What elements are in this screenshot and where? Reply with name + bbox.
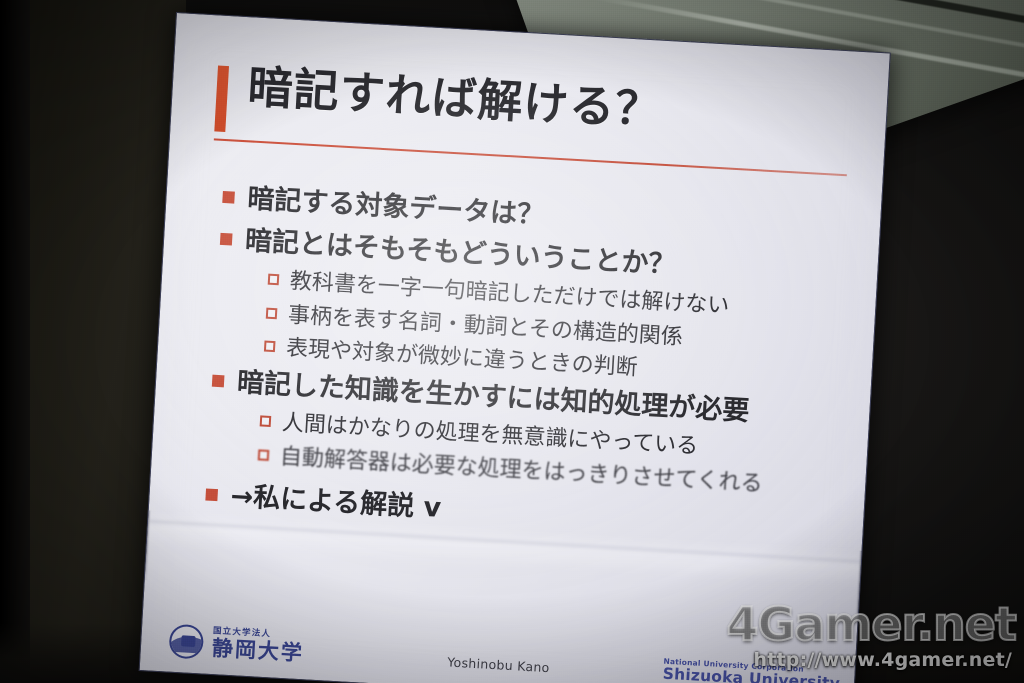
bullet-hollow-square-icon: [260, 416, 272, 428]
slide-footer: 国立大学法人 静岡大学 Yoshinobu Kano National Univ…: [140, 596, 859, 683]
bullet-hollow-square-icon: [268, 274, 280, 286]
wall-left-edge: [0, 0, 30, 683]
photograph: 暗記すれば解ける？ 暗記する対象データは？ 暗記とはそもそもどういうことか？: [0, 0, 1024, 683]
bullet-hollow-square-icon: [264, 341, 276, 353]
bullet-hollow-square-icon: [258, 449, 270, 461]
bullet-square-icon: [205, 488, 218, 501]
projection-screen: 暗記すれば解ける？ 暗記する対象データは？ 暗記とはそもそもどういうことか？: [139, 12, 891, 683]
slide-surface: 暗記すれば解ける？ 暗記する対象データは？ 暗記とはそもそもどういうことか？: [139, 12, 891, 683]
list-item-label: →私による解説 v: [230, 480, 442, 526]
bullet-square-icon: [220, 232, 233, 245]
bullet-square-icon: [212, 375, 225, 388]
shizuoka-university-logo-en: National University Corporation Shizuoka…: [662, 657, 841, 683]
page-title: 暗記すれば解ける？: [246, 63, 662, 135]
slide-content: 暗記すれば解ける？ 暗記する対象データは？ 暗記とはそもそもどういうことか？: [140, 13, 890, 683]
bullet-square-icon: [222, 191, 235, 204]
bullet-hollow-square-icon: [266, 307, 278, 319]
title-accent-bar: [214, 65, 229, 132]
bullet-list: 暗記する対象データは？ 暗記とはそもそもどういうことか？ 教科書を一字一句暗記し…: [204, 181, 862, 556]
